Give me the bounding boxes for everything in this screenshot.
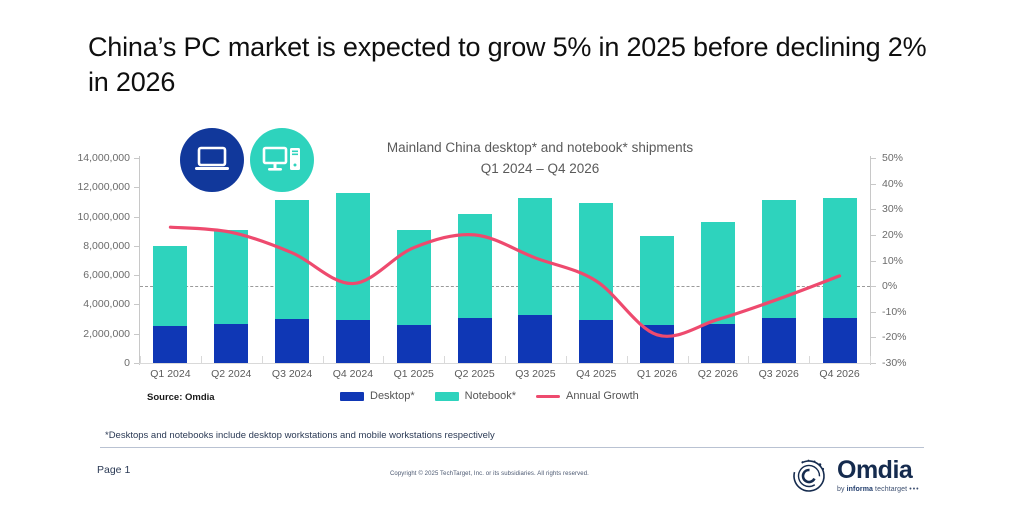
legend-swatch xyxy=(435,392,459,401)
legend-item[interactable]: Desktop* xyxy=(340,390,415,402)
y-axis-left-tick-label: 8,000,000 xyxy=(44,240,130,252)
y-axis-right-tick xyxy=(871,312,876,313)
omdia-mark-icon xyxy=(790,455,830,495)
legend-item[interactable]: Annual Growth xyxy=(536,390,639,402)
y-axis-left-tick xyxy=(134,334,139,335)
omdia-tagline: by informa techtarget ••• xyxy=(837,486,920,493)
x-axis-line xyxy=(139,363,871,364)
chart-subtitle-line1: Mainland China desktop* and notebook* sh… xyxy=(330,138,750,159)
bar-column[interactable] xyxy=(458,158,492,363)
bar-column[interactable] xyxy=(214,158,248,363)
y-axis-left-tick-label: 4,000,000 xyxy=(44,298,130,310)
bar-segment-desktop[interactable] xyxy=(336,320,370,363)
bar-column[interactable] xyxy=(579,158,613,363)
bar-series-group xyxy=(140,158,870,363)
x-axis-tick-label: Q1 2026 xyxy=(622,368,692,380)
slide: China’s PC market is expected to grow 5%… xyxy=(0,0,1024,512)
x-axis-tick-label: Q3 2025 xyxy=(500,368,570,380)
bar-column[interactable] xyxy=(640,158,674,363)
x-axis-tick-label: Q3 2026 xyxy=(744,368,814,380)
page-number: Page 1 xyxy=(97,464,130,476)
y-axis-left-tick-label: 2,000,000 xyxy=(44,328,130,340)
y-axis-right-tick xyxy=(871,235,876,236)
y-axis-right-tick xyxy=(871,158,876,159)
y-axis-left-tick-label: 12,000,000 xyxy=(44,181,130,193)
omdia-logo: Omdia by informa techtarget ••• xyxy=(790,455,920,495)
legend-label: Notebook* xyxy=(465,390,516,402)
bar-segment-desktop[interactable] xyxy=(579,320,613,363)
bar-segment-notebook[interactable] xyxy=(579,203,613,319)
bar-segment-notebook[interactable] xyxy=(214,230,248,324)
y-axis-right-tick-label: 50% xyxy=(882,152,942,164)
bar-segment-desktop[interactable] xyxy=(275,319,309,363)
bar-segment-desktop[interactable] xyxy=(518,315,552,363)
y-axis-right-tick xyxy=(871,363,876,364)
y-axis-left-tick xyxy=(134,275,139,276)
bar-segment-desktop[interactable] xyxy=(397,325,431,363)
footer-divider xyxy=(100,447,924,448)
x-axis-tick-label: Q2 2026 xyxy=(683,368,753,380)
bar-column[interactable] xyxy=(153,158,187,363)
x-axis-tick-label: Q4 2026 xyxy=(805,368,875,380)
y-axis-left-tick xyxy=(134,304,139,305)
bar-segment-notebook[interactable] xyxy=(458,214,492,319)
bar-column[interactable] xyxy=(275,158,309,363)
x-axis-tick-label: Q3 2024 xyxy=(257,368,327,380)
y-axis-right-tick xyxy=(871,337,876,338)
legend-item[interactable]: Notebook* xyxy=(435,390,516,402)
bar-segment-notebook[interactable] xyxy=(762,200,796,318)
y-axis-left-tick-label: 6,000,000 xyxy=(44,269,130,281)
footnote: *Desktops and notebooks include desktop … xyxy=(105,430,905,441)
bar-column[interactable] xyxy=(518,158,552,363)
x-axis-tick-label: Q1 2025 xyxy=(379,368,449,380)
bar-segment-notebook[interactable] xyxy=(336,193,370,320)
x-axis-separator xyxy=(870,356,871,363)
y-axis-right-tick-label: 0% xyxy=(882,280,942,292)
bar-segment-desktop[interactable] xyxy=(701,324,735,363)
y-axis-left-tick xyxy=(134,217,139,218)
y-axis-right-tick-label: 40% xyxy=(882,178,942,190)
source-label: Source: Omdia xyxy=(147,392,215,403)
y-axis-right-tick-label: -30% xyxy=(882,357,942,369)
bar-column[interactable] xyxy=(701,158,735,363)
y-axis-right-tick-label: -10% xyxy=(882,306,942,318)
bar-segment-notebook[interactable] xyxy=(518,198,552,315)
bar-segment-desktop[interactable] xyxy=(214,324,248,363)
bar-segment-desktop[interactable] xyxy=(823,318,857,363)
bar-segment-notebook[interactable] xyxy=(397,230,431,325)
legend-label: Annual Growth xyxy=(566,390,639,402)
y-axis-left-tick-label: 0 xyxy=(44,357,130,369)
bar-segment-desktop[interactable] xyxy=(762,318,796,363)
bar-column[interactable] xyxy=(336,158,370,363)
legend-label: Desktop* xyxy=(370,390,415,402)
y-axis-left-tick xyxy=(134,363,139,364)
bar-segment-notebook[interactable] xyxy=(701,222,735,325)
bar-segment-desktop[interactable] xyxy=(153,326,187,363)
legend-swatch xyxy=(340,392,364,401)
chart-legend: Desktop*Notebook*Annual Growth xyxy=(340,390,639,402)
bar-segment-notebook[interactable] xyxy=(640,236,674,325)
y-axis-left-tick-label: 10,000,000 xyxy=(44,211,130,223)
legend-swatch xyxy=(536,395,560,398)
bar-segment-desktop[interactable] xyxy=(640,325,674,363)
y-axis-right-tick-label: 10% xyxy=(882,255,942,267)
y-axis-right-tick-label: 30% xyxy=(882,203,942,215)
x-axis-tick-label: Q4 2024 xyxy=(318,368,388,380)
bar-segment-desktop[interactable] xyxy=(458,318,492,363)
x-axis-tick-label: Q4 2025 xyxy=(561,368,631,380)
x-axis-tick-label: Q2 2024 xyxy=(196,368,266,380)
bar-column[interactable] xyxy=(397,158,431,363)
y-axis-right-tick-label: -20% xyxy=(882,331,942,343)
copyright-notice: Copyright © 2025 TechTarget, Inc. or its… xyxy=(390,471,589,477)
y-axis-left-tick xyxy=(134,187,139,188)
x-axis-labels: Q1 2024Q2 2024Q3 2024Q4 2024Q1 2025Q2 20… xyxy=(140,368,870,384)
y-axis-left-tick-label: 14,000,000 xyxy=(44,152,130,164)
y-axis-right-tick xyxy=(871,261,876,262)
y-axis-right-tick xyxy=(871,209,876,210)
y-axis-left-tick xyxy=(134,246,139,247)
bar-segment-notebook[interactable] xyxy=(823,198,857,319)
y-axis-right-tick xyxy=(871,184,876,185)
bar-segment-notebook[interactable] xyxy=(275,200,309,319)
y-axis-right-tick-label: 20% xyxy=(882,229,942,241)
y-axis-right-tick xyxy=(871,286,876,287)
bar-column[interactable] xyxy=(762,158,796,363)
y-axis-left-tick xyxy=(134,158,139,159)
page-title: China’s PC market is expected to grow 5%… xyxy=(88,30,938,99)
omdia-wordmark: Omdia xyxy=(837,458,920,483)
bar-segment-notebook[interactable] xyxy=(153,246,187,327)
bar-column[interactable] xyxy=(823,158,857,363)
x-axis-tick-label: Q2 2025 xyxy=(440,368,510,380)
x-axis-tick-label: Q1 2024 xyxy=(135,368,205,380)
